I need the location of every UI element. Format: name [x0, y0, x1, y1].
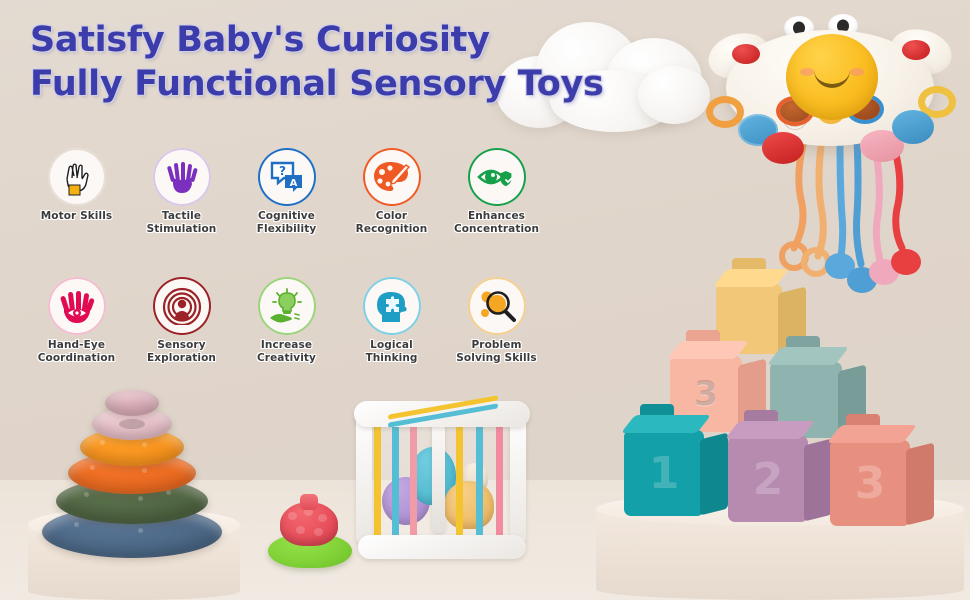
- toy-face: [786, 34, 878, 120]
- product-pull-string-toy: [700, 4, 962, 296]
- spinner-knob: [300, 494, 318, 510]
- block-bottom-3: 3: [830, 440, 910, 526]
- hand-lightbulb-icon: [258, 277, 316, 335]
- block-bottom-2: 2: [728, 436, 808, 522]
- eye-shield-check-icon: [468, 148, 526, 206]
- cube-frame-left: [356, 409, 372, 545]
- feature-increase-creativity: IncreaseCreativity: [234, 277, 339, 364]
- cube-shape-yellow: [444, 481, 494, 529]
- feature-problem-solving-skills: ProblemSolving Skills: [444, 277, 549, 364]
- cube-band: [496, 415, 503, 539]
- feature-label: ProblemSolving Skills: [456, 339, 536, 364]
- headline-line-1: Satisfy Baby's Curiosity: [30, 18, 690, 62]
- head-puzzle-icon: [363, 277, 421, 335]
- feature-label: Motor Skills: [41, 210, 113, 223]
- feature-label: SensoryExploration: [147, 339, 216, 364]
- product-spinner-toy: [268, 492, 352, 568]
- feature-row-1: Motor Skills TactileS: [24, 148, 549, 235]
- purple-hand-icon: [153, 148, 211, 206]
- product-shape-sorter-cube: [344, 385, 540, 567]
- feature-label: IncreaseCreativity: [257, 339, 316, 364]
- toy-tab-blue-right: [892, 110, 934, 144]
- sound-waves-person-icon: [153, 277, 211, 335]
- block-bottom-1: 1: [624, 430, 704, 516]
- svg-text:A: A: [289, 178, 297, 189]
- cube-band: [392, 415, 399, 539]
- ring-top-pink: [105, 390, 159, 416]
- cube-band: [456, 415, 463, 539]
- feature-hand-eye-coordination: Hand-EyeCoordination: [24, 277, 129, 364]
- cube-frame-center: [432, 413, 445, 533]
- hand-with-eye-icon: [48, 277, 106, 335]
- toy-button-red-left: [732, 44, 760, 64]
- feature-logical-thinking: LogicalThinking: [339, 277, 444, 364]
- feature-label: CognitiveFlexibility: [257, 210, 317, 235]
- product-stacking-rings: [42, 386, 222, 558]
- question-answer-bubbles-icon: ? A: [258, 148, 316, 206]
- paint-palette-icon: [363, 148, 421, 206]
- hand-pinch-block-icon: [48, 148, 106, 206]
- product-banner: Satisfy Baby's Curiosity Fully Functiona…: [0, 0, 970, 600]
- cube-band: [374, 415, 381, 539]
- feature-cognitive-flexibility: ? A CognitiveFlexibility: [234, 148, 339, 235]
- product-soft-blocks: 3 1 2 3: [600, 270, 952, 548]
- cube-band: [476, 415, 483, 539]
- feature-motor-skills: Motor Skills: [24, 148, 129, 235]
- toy-teether-ring-left: [706, 96, 744, 128]
- feature-label: ColorRecognition: [356, 210, 428, 235]
- feature-enhances-concentration: EnhancesConcentration: [444, 148, 549, 235]
- feature-tactile-stimulation: TactileStimulation: [129, 148, 234, 235]
- page-title: Satisfy Baby's Curiosity Fully Functiona…: [30, 18, 690, 106]
- cube-frame-bottom: [358, 535, 526, 559]
- svg-text:?: ?: [279, 164, 286, 178]
- cube-frame-right: [510, 409, 526, 545]
- headline-line-2: Fully Functional Sensory Toys: [30, 62, 690, 106]
- smile-icon: [814, 70, 850, 88]
- feature-color-recognition: ColorRecognition: [339, 148, 444, 235]
- feature-label: Hand-EyeCoordination: [38, 339, 116, 364]
- feature-label: LogicalThinking: [365, 339, 417, 364]
- toy-button-red-right: [902, 40, 930, 60]
- feature-label: EnhancesConcentration: [454, 210, 539, 235]
- feature-sensory-exploration: SensoryExploration: [129, 277, 234, 364]
- magnifier-search-icon: [468, 277, 526, 335]
- feature-benefits-grid: Motor Skills TactileS: [24, 148, 549, 364]
- feature-label: TactileStimulation: [147, 210, 217, 235]
- feature-row-2: Hand-EyeCoordination SensoryExploration: [24, 277, 549, 364]
- toy-tab-red-left: [762, 132, 804, 164]
- cube-band: [410, 415, 417, 539]
